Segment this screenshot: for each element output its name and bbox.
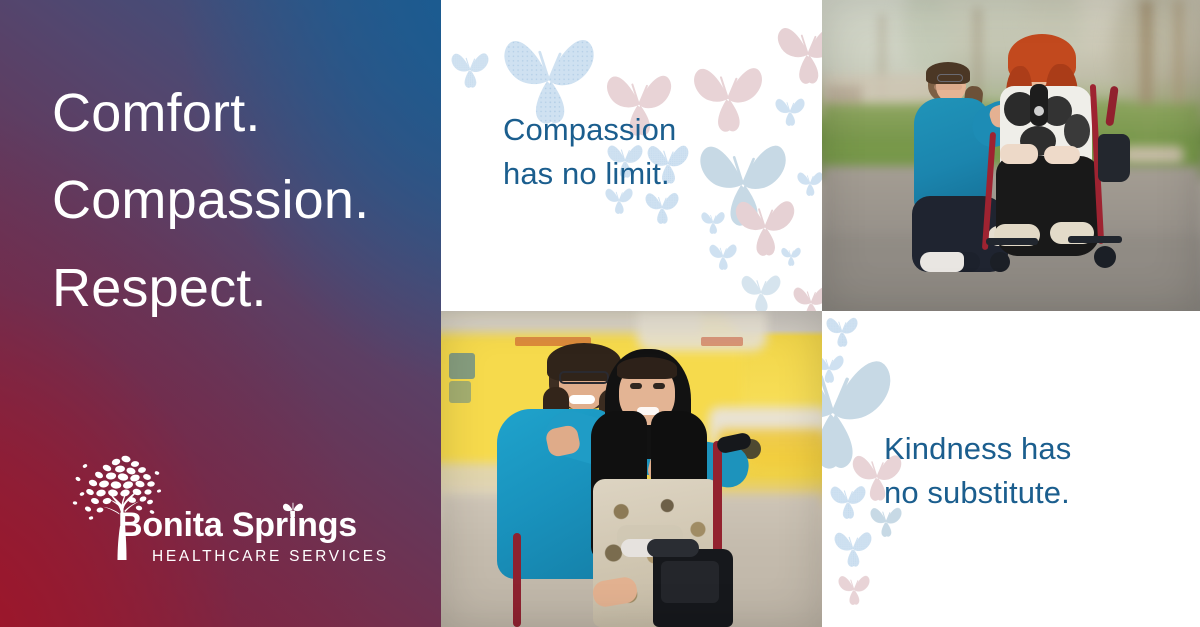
quote-bottom-line-1: Kindness has — [884, 427, 1071, 471]
quote-bottom-line-2: no substitute. — [884, 471, 1071, 515]
logo: Bonita Springs HEALTHCARE SERVICES — [64, 448, 364, 593]
headline-line-1: Comfort. — [52, 70, 432, 157]
quote-top-line-2: has no limit. — [503, 152, 676, 196]
page-title: Comfort. Compassion. Respect. — [52, 70, 432, 332]
quote-text-compassion: Compassion has no limit. — [503, 108, 676, 197]
quote-panel-compassion: Compassion has no limit. — [441, 0, 822, 311]
butterfly-icon — [282, 500, 304, 520]
brand-gradient-panel: Comfort. Compassion. Respect. — [0, 0, 441, 627]
headline-line-3: Respect. — [52, 245, 432, 332]
photo-caregiver-van — [441, 311, 822, 627]
quote-panel-kindness: Kindness has no substitute. — [822, 311, 1200, 627]
headline-line-2: Compassion. — [52, 157, 432, 244]
quote-text-kindness: Kindness has no substitute. — [884, 427, 1071, 516]
quote-top-line-1: Compassion — [503, 108, 676, 152]
photo-image-park — [822, 0, 1200, 311]
marketing-banner: Comfort. Compassion. Respect. — [0, 0, 1200, 627]
photo-image-van — [441, 311, 822, 627]
logo-tagline: HEALTHCARE SERVICES — [152, 548, 389, 566]
photo-caregiver-park — [822, 0, 1200, 311]
logo-wordmark: Bonita Springs — [118, 508, 368, 542]
